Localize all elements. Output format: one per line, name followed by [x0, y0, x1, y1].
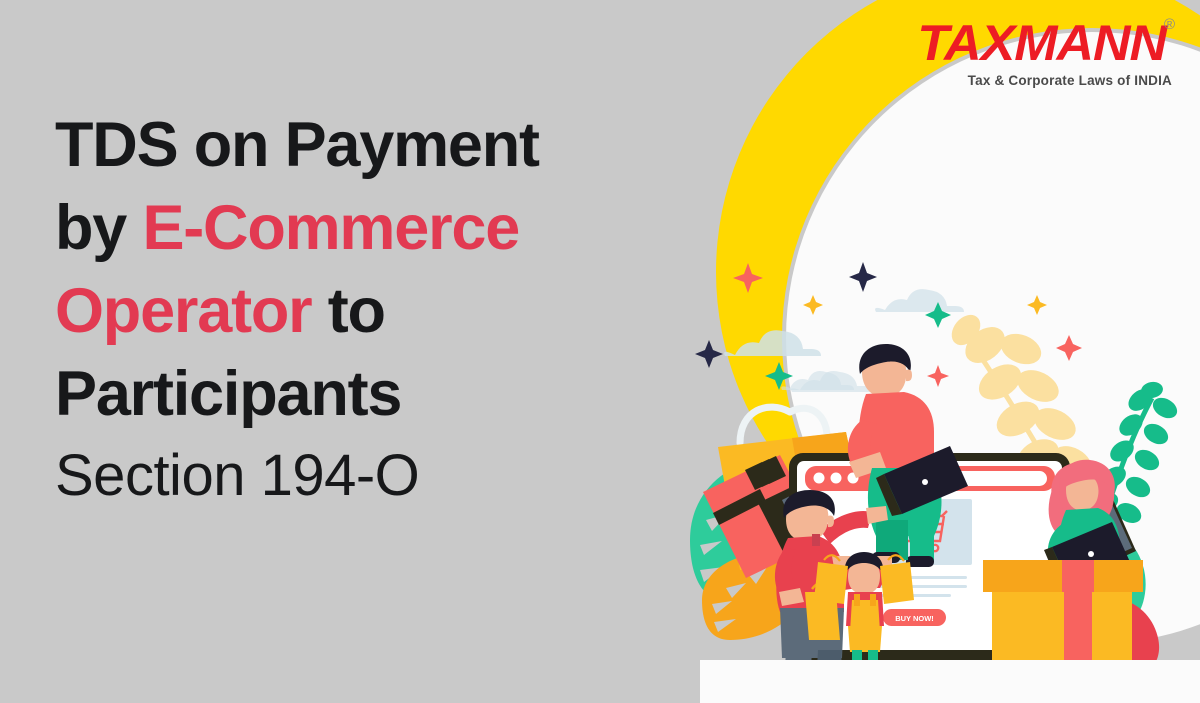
gift-box: [983, 560, 1143, 670]
cloud-icon: [724, 330, 821, 356]
sparkle-star-icon: [733, 263, 763, 293]
headline-line-4: Participants: [55, 353, 735, 436]
headline-subtitle: Section 194-O: [55, 436, 735, 516]
sparkle-star-icon: [765, 362, 793, 390]
taxmann-article-banner: BUY NOW!: [0, 0, 1200, 703]
bottom-white-strip: [700, 660, 1200, 703]
headline-line-2-prefix: by: [55, 193, 142, 263]
headline-accent-ecommerce: E-Commerce: [142, 193, 519, 263]
headline-block: TDS on Payment by E-Commerce Operator to…: [55, 104, 735, 516]
buy-now-label: BUY NOW!: [895, 614, 934, 623]
logo-wordmark: TAXMANN: [917, 18, 1166, 68]
headline-line-3-suffix: to: [311, 276, 384, 346]
headline-line-2: by E-Commerce: [55, 187, 735, 270]
headline-line-1: TDS on Payment: [55, 104, 735, 187]
logo-tagline: Tax & Corporate Laws of INDIA: [922, 73, 1172, 88]
sparkle-star-icon: [803, 295, 823, 315]
sparkle-star-icon: [849, 262, 877, 292]
taxmann-logo: TAXMANN® Tax & Corporate Laws of INDIA: [922, 18, 1172, 88]
cloud-icon: [875, 289, 964, 312]
browser-dot: [831, 473, 842, 484]
headline-line-3: Operator to: [55, 270, 735, 353]
sparkle-star-icon: [1027, 295, 1047, 315]
headline-accent-operator: Operator: [55, 276, 311, 346]
registered-trademark-icon: ®: [1164, 16, 1175, 33]
sparkle-star-icon: [1056, 335, 1082, 361]
sparkle-star-icon: [927, 365, 949, 387]
browser-dot: [814, 473, 825, 484]
